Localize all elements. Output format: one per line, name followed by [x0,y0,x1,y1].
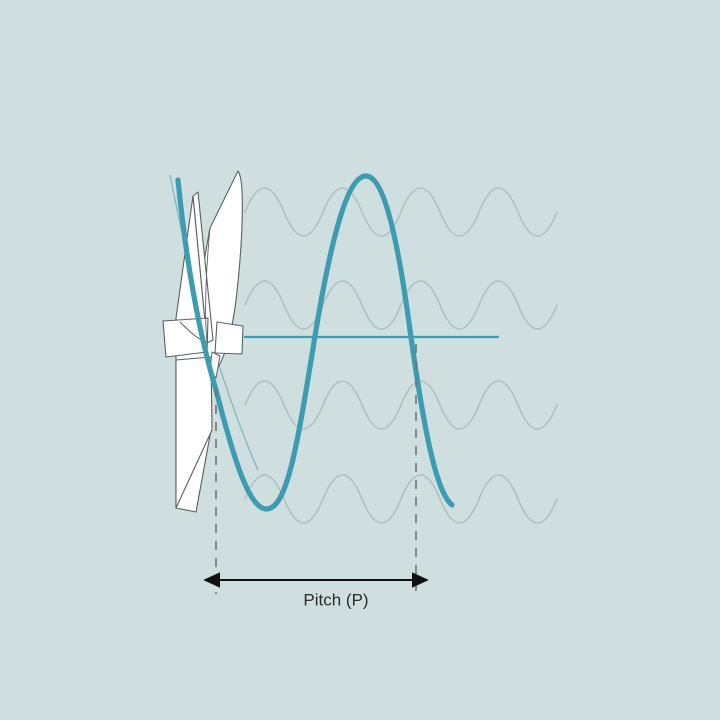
pitch-label: Pitch (P) [303,590,368,609]
background-fill [0,0,720,720]
propeller-pitch-diagram: Pitch (P) [0,0,720,720]
diagram-canvas: Pitch (P) [0,0,720,720]
hub-right-box [215,322,243,354]
